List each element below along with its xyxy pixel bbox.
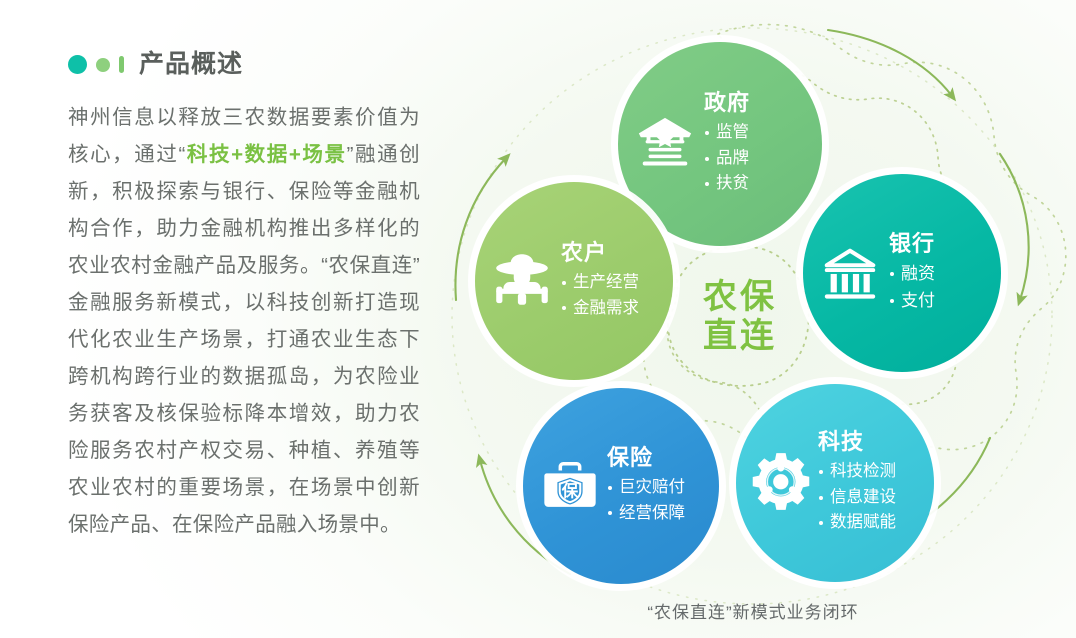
node-government-bullets: 监管 品牌 扶贫 (704, 120, 750, 197)
bar-green-icon (119, 56, 124, 73)
bullet-item: 金融需求 (561, 296, 639, 322)
node-bank-title: 银行 (889, 232, 935, 256)
node-bank-text: 银行 融资 支付 (889, 232, 935, 314)
diagram-caption: “农保直连”新模式业务闭环 (430, 598, 1076, 623)
bullet-item: 科技检测 (818, 459, 896, 485)
arrow-bank-to-tech (1000, 154, 1029, 300)
gear-icon (748, 450, 814, 516)
text-column: 产品概述 神州信息以释放三农数据要素价值为核心，通过“科技+数据+场景”融通创新… (68, 52, 428, 564)
bullet-item: 数据赋能 (818, 510, 896, 536)
bullet-item: 巨灾赔付 (607, 475, 685, 501)
node-technology-bullets: 科技检测 信息建设 数据赋能 (818, 459, 896, 536)
node-farmer-title: 农户 (561, 241, 639, 265)
farmer-hat-icon (489, 248, 555, 314)
center-label-line-2: 直连 (703, 317, 777, 356)
slide-canvas: 产品概述 神州信息以释放三农数据要素价值为核心，通过“科技+数据+场景”融通创新… (0, 0, 1076, 638)
node-insurance-title: 保险 (607, 446, 685, 470)
node-farmer-text: 农户 生产经营 金融需求 (561, 241, 639, 321)
node-insurance-text: 保险 巨灾赔付 经营保障 (607, 446, 685, 526)
section-heading: 产品概述 (68, 52, 428, 77)
node-government-text: 政府 监管 品牌 扶贫 (704, 91, 750, 197)
bullet-item: 监管 (704, 120, 750, 146)
bullet-item: 经营保障 (607, 501, 685, 527)
bank-columns-icon (819, 242, 881, 304)
diagram-center-label: 农保 直连 (675, 264, 805, 370)
closed-loop-diagram: 政府 监管 品牌 扶贫 (430, 0, 1076, 638)
bullet-item: 信息建设 (818, 485, 896, 511)
node-farmer[interactable]: 农户 生产经营 金融需求 (475, 182, 673, 380)
node-technology[interactable]: 科技 科技检测 信息建设 数据赋能 (736, 384, 934, 582)
dot-medium-green-icon (96, 58, 110, 72)
bullet-item: 品牌 (704, 146, 750, 172)
insurance-briefcase-shield-icon: 保 (539, 455, 601, 517)
bullet-item: 生产经营 (561, 270, 639, 296)
insurance-glyph: 保 (561, 482, 579, 501)
arrow-gov-to-bank (828, 30, 952, 96)
page-title: 产品概述 (139, 52, 243, 77)
body-highlight: 科技+数据+场景 (186, 143, 347, 166)
node-farmer-bullets: 生产经营 金融需求 (561, 270, 639, 321)
node-insurance-bullets: 巨灾赔付 经营保障 (607, 475, 685, 526)
dot-large-teal-icon (68, 55, 87, 74)
node-bank-bullets: 融资 支付 (889, 261, 935, 314)
government-building-icon (634, 113, 696, 175)
node-government-title: 政府 (704, 91, 750, 115)
bullet-item: 支付 (889, 288, 935, 314)
body-paragraph: 神州信息以释放三农数据要素价值为核心，通过“科技+数据+场景”融通创新，积极探索… (68, 99, 420, 543)
center-label-line-1: 农保 (703, 278, 777, 317)
bullet-item: 融资 (889, 261, 935, 287)
body-part-2: ”融通创新，积极探索与银行、保险等金融机构合作，助力金融机构推出多样化的农业农村… (68, 143, 420, 536)
node-insurance[interactable]: 保 保险 巨灾赔付 经营保障 (523, 388, 719, 584)
node-technology-text: 科技 科技检测 信息建设 数据赋能 (818, 430, 896, 536)
node-technology-title: 科技 (818, 430, 896, 454)
bullet-item: 扶贫 (704, 171, 750, 197)
node-bank[interactable]: 银行 融资 支付 (803, 174, 1001, 372)
